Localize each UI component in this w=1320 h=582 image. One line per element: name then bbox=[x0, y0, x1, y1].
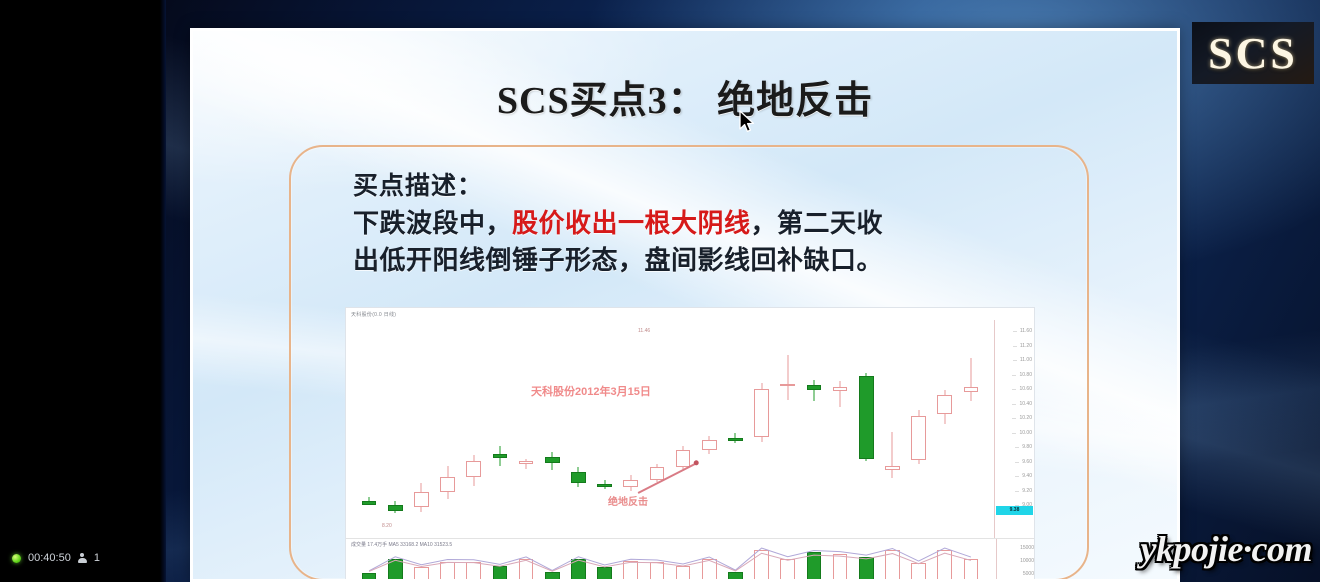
price-tick: 10.00 bbox=[1019, 430, 1032, 436]
candle-10 bbox=[597, 480, 612, 490]
chart-header-text: 天科股份(0.0 日线) bbox=[351, 311, 396, 318]
annotation-label: 绝地反击 bbox=[608, 493, 648, 508]
high-price-marker: 11.46 bbox=[638, 328, 650, 334]
mouse-cursor bbox=[738, 110, 756, 134]
scs-logo: SCS bbox=[1192, 22, 1314, 84]
candle-body bbox=[362, 501, 377, 505]
candle-2 bbox=[388, 501, 403, 513]
candle-body bbox=[623, 480, 638, 487]
annotation-arrow bbox=[638, 462, 698, 493]
candle-23 bbox=[937, 390, 952, 424]
volume-tick: 15000 bbox=[1020, 545, 1034, 551]
candle-body bbox=[597, 484, 612, 487]
candle-24 bbox=[964, 358, 979, 400]
candle-body bbox=[388, 505, 403, 511]
candle-22 bbox=[911, 410, 926, 464]
candle-body bbox=[885, 466, 900, 470]
price-tick: 11.00 bbox=[1020, 357, 1032, 363]
candle-wick bbox=[787, 355, 788, 400]
recording-indicator-icon bbox=[12, 554, 21, 563]
candle-body bbox=[493, 454, 508, 458]
chart-date-note: 天科股份2012年3月15日 bbox=[531, 383, 651, 399]
price-tick: 9.40 bbox=[1022, 473, 1032, 479]
price-tick: 11.60 bbox=[1020, 328, 1032, 334]
price-tick: 10.40 bbox=[1019, 401, 1032, 407]
candle-8 bbox=[545, 452, 560, 471]
page-title: SCS买点3： 绝地反击 bbox=[193, 69, 1177, 124]
screen: SCS买点3： 绝地反击 买点描述： 下跌波段中，股价收出一根大阴线，第二天收 … bbox=[0, 0, 1320, 582]
price-tick: 9.20 bbox=[1022, 488, 1032, 494]
candle-4 bbox=[440, 466, 455, 499]
chart-plot-area: 天科股份2012年3月15日 11.46 8.20 绝地反击 bbox=[346, 320, 996, 538]
candle-wick bbox=[892, 432, 893, 478]
candle-body bbox=[650, 467, 665, 479]
left-black-panel bbox=[0, 0, 164, 582]
viewer-count: 1 bbox=[94, 552, 100, 564]
site-watermark: ykpojie·com bbox=[1141, 528, 1312, 570]
price-tick: 9.80 bbox=[1022, 444, 1032, 450]
description-highlight: 股价收出一根大阴线 bbox=[512, 209, 751, 238]
description-line1-post: ，第二天收 bbox=[751, 209, 884, 238]
low-price-marker: 8.20 bbox=[382, 523, 392, 529]
candle-body bbox=[440, 477, 455, 492]
scs-logo-text: SCS bbox=[1208, 28, 1298, 79]
candle-body bbox=[780, 384, 795, 387]
candle-body bbox=[702, 440, 717, 450]
viewer-icon bbox=[78, 553, 87, 564]
candle-19 bbox=[833, 381, 848, 406]
candle-body bbox=[911, 416, 926, 460]
candle-body bbox=[859, 376, 874, 459]
volume-ma-lines bbox=[346, 539, 996, 579]
description-block: 买点描述： 下跌波段中，股价收出一根大阴线，第二天收 出低开阳线倒锤子形态，盘间… bbox=[353, 171, 1083, 278]
price-tick: 9.60 bbox=[1022, 459, 1032, 465]
candle-21 bbox=[885, 432, 900, 478]
description-line1-pre: 下跌波段中， bbox=[353, 209, 512, 238]
price-axis: 11.6011.2011.0010.8010.6010.4010.2010.00… bbox=[994, 320, 1034, 538]
status-bar: 00:40:50 1 bbox=[0, 534, 164, 582]
description-heading: 买点描述： bbox=[353, 171, 1083, 203]
elapsed-time: 00:40:50 bbox=[28, 552, 71, 564]
candle-body bbox=[964, 387, 979, 391]
candle-18 bbox=[807, 380, 822, 401]
candlestick-chart: 天科股份(0.0 日线) 天科股份2012年3月15日 11.46 8.20 绝… bbox=[345, 307, 1035, 579]
candle-9 bbox=[571, 467, 586, 486]
candle-wick bbox=[970, 358, 971, 400]
description-line-2: 出低开阳线倒锤子形态，盘间影线回补缺口。 bbox=[353, 244, 1083, 277]
candle-3 bbox=[414, 483, 429, 513]
description-line-1: 下跌波段中，股价收出一根大阴线，第二天收 bbox=[353, 207, 1083, 240]
volume-axis: 15000100005000 bbox=[996, 539, 1035, 579]
candle-1 bbox=[362, 497, 377, 505]
candle-body bbox=[833, 387, 848, 391]
candle-body bbox=[754, 389, 769, 438]
presentation-slide: SCS买点3： 绝地反击 买点描述： 下跌波段中，股价收出一根大阴线，第二天收 … bbox=[190, 28, 1180, 582]
price-tick: 10.20 bbox=[1019, 415, 1032, 421]
price-tick: 10.60 bbox=[1019, 386, 1032, 392]
volume-pane: 成交量 17.4万手 MA5 33168.2 MA10 31523.5 1500… bbox=[346, 538, 1035, 579]
candle-body bbox=[414, 492, 429, 507]
candle-body bbox=[571, 472, 586, 483]
candle-16 bbox=[754, 383, 769, 442]
left-edge-glow bbox=[160, 0, 166, 582]
candle-body bbox=[937, 395, 952, 414]
price-tick: 10.80 bbox=[1019, 372, 1032, 378]
candle-wick bbox=[813, 380, 814, 401]
candle-body bbox=[728, 438, 743, 441]
candle-body bbox=[807, 385, 822, 390]
candle-7 bbox=[519, 459, 534, 469]
candle-11 bbox=[623, 475, 638, 491]
volume-tick: 10000 bbox=[1020, 558, 1034, 564]
candle-body bbox=[519, 461, 534, 464]
candle-5 bbox=[466, 455, 481, 485]
price-tick: 11.20 bbox=[1020, 343, 1032, 349]
candle-20 bbox=[859, 373, 874, 461]
candle-wick bbox=[840, 381, 841, 406]
volume-tick: 5000 bbox=[1023, 571, 1034, 577]
candle-body bbox=[545, 457, 560, 463]
candle-14 bbox=[702, 436, 717, 454]
candle-17 bbox=[780, 355, 795, 400]
candle-6 bbox=[493, 446, 508, 466]
candle-body bbox=[466, 461, 481, 476]
current-price-badge: 9.38 bbox=[996, 506, 1033, 515]
candle-15 bbox=[728, 433, 743, 443]
